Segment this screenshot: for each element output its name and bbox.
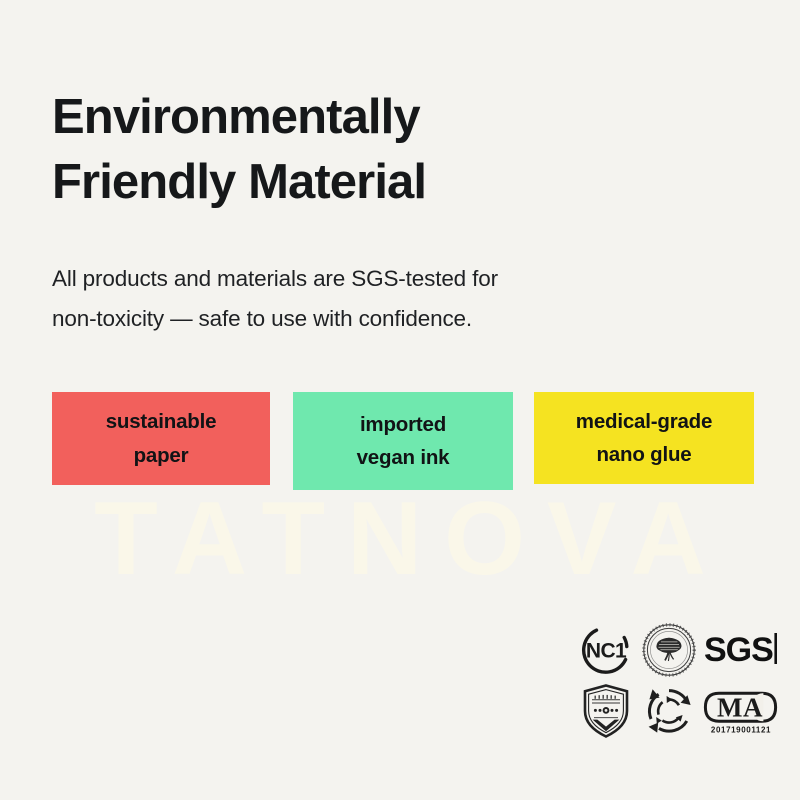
shield-crest-icon xyxy=(581,683,631,739)
svg-text:MA: MA xyxy=(717,693,763,723)
poster-canvas: TATNOVA Environmentally Friendly Materia… xyxy=(0,0,800,800)
chip-vegan-ink: imported vegan ink xyxy=(293,392,513,490)
chip-nano-glue: medical-grade nano glue xyxy=(534,392,754,484)
material-chip-group: sustainable paper imported vegan ink med… xyxy=(52,392,754,490)
brand-watermark: TATNOVA xyxy=(0,487,800,591)
page-title-line-1: Environmentally xyxy=(52,85,692,150)
certification-badge-grid: NC1 xyxy=(575,620,780,742)
chip-nano-glue-line-2: nano glue xyxy=(596,438,691,471)
chip-sustainable-paper-line-2: paper xyxy=(134,439,189,472)
page-subtitle: All products and materials are SGS-teste… xyxy=(52,259,652,339)
chip-vegan-ink-line-2: vegan ink xyxy=(357,441,450,474)
tree-seal-icon xyxy=(642,623,696,677)
svg-text:NC1: NC1 xyxy=(586,640,627,663)
chip-sustainable-paper: sustainable paper xyxy=(52,392,270,485)
cma-certificate-number: 201719001121 xyxy=(710,726,770,735)
svg-text:SGS: SGS xyxy=(704,631,773,669)
sgs-wordmark-icon: SGS xyxy=(703,628,779,672)
page-title: Environmentally Friendly Material xyxy=(52,85,692,215)
recycling-arrows-icon xyxy=(642,684,696,738)
nc1-circle-icon: NC1 xyxy=(580,624,632,676)
chip-sustainable-paper-line-1: sustainable xyxy=(106,405,217,438)
cma-oval-icon: MA 201719001121 xyxy=(702,685,780,737)
chip-nano-glue-line-1: medical-grade xyxy=(576,405,712,438)
chip-vegan-ink-line-1: imported xyxy=(360,408,446,441)
page-subtitle-line-2: non-toxicity — safe to use with confiden… xyxy=(52,299,652,339)
page-subtitle-line-1: All products and materials are SGS-teste… xyxy=(52,259,652,299)
page-title-line-2: Friendly Material xyxy=(52,150,692,215)
